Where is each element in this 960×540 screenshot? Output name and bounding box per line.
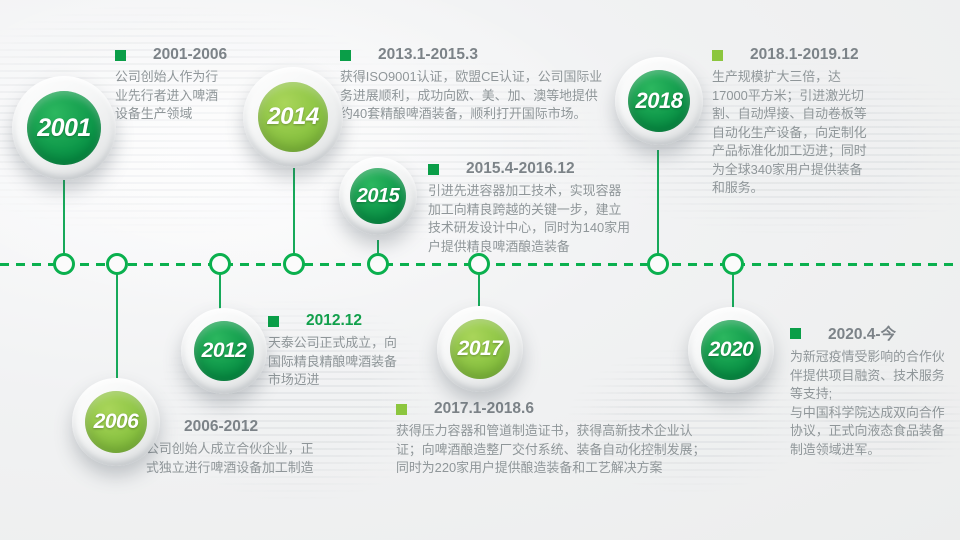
year-bubble-2015[interactable]: 2015	[339, 157, 417, 235]
bullet-square-icon	[268, 316, 279, 327]
axis-node-2017	[468, 253, 490, 275]
year-bubble-2018[interactable]: 2018	[615, 57, 703, 145]
milestone-heading-row: 2001-2006	[115, 46, 240, 64]
stem-2014	[293, 168, 295, 264]
year-bubble-2020[interactable]: 2020	[688, 307, 774, 393]
milestone-heading: 2015.4-2016.12	[466, 160, 575, 178]
milestone-heading: 2017.1-2018.6	[434, 400, 534, 418]
year-label: 2014	[267, 103, 318, 131]
milestone-body: 生产规模扩大三倍，达 17000平方米；引进激光切 割、自动焊接、自动卷板等 自…	[712, 68, 902, 198]
milestone-text-2020: 2020.4-今 为新冠疫情受影响的合作伙 伴提供项目融资、技术服务 等支持; …	[790, 322, 960, 459]
milestone-text-2001: 2001-2006 公司创始人作为行 业先行者进入啤酒 设备生产领域	[115, 46, 240, 124]
milestone-heading: 2020.4-今	[828, 322, 896, 344]
year-label: 2018	[636, 88, 683, 114]
year-bubble-2014[interactable]: 2014	[243, 67, 343, 167]
axis-node-2015	[367, 253, 389, 275]
year-bubble-2001[interactable]: 2001	[12, 76, 116, 180]
milestone-body: 为新冠疫情受影响的合作伙 伴提供项目融资、技术服务 等支持; 与中国科学院达成双…	[790, 348, 960, 459]
bullet-square-icon	[712, 50, 723, 61]
milestone-body: 引进先进容器加工技术，实现容器 加工向精良跨越的关键一步，建立 技术研发设计中心…	[428, 182, 668, 256]
axis-node-2014	[283, 253, 305, 275]
axis-node-2001	[53, 253, 75, 275]
year-bubble-2017[interactable]: 2017	[437, 306, 523, 392]
milestone-heading-row: 2020.4-今	[790, 322, 960, 344]
year-label: 2001	[37, 114, 91, 143]
axis-node-2020	[722, 253, 744, 275]
year-label: 2017	[458, 337, 503, 361]
timeline-infographic: 2001 2006 2012 2014 2015 2017 2018 2020	[0, 0, 960, 540]
bullet-square-icon	[115, 50, 126, 61]
milestone-text-2006: 2006-2012 公司创始人成立合伙企业，正 式独立进行啤酒设备加工制造	[146, 418, 366, 477]
milestone-heading-row: 2013.1-2015.3	[340, 46, 650, 64]
milestone-text-2018: 2018.1-2019.12 生产规模扩大三倍，达 17000平方米；引进激光切…	[712, 46, 902, 198]
milestone-body: 获得ISO9001认证，欧盟CE认证，公司国际业 务进展顺利，成功向欧、美、加、…	[340, 68, 650, 124]
milestone-heading-row: 2006-2012	[146, 418, 366, 436]
year-label: 2006	[94, 410, 139, 434]
milestone-heading-row: 2012.12	[268, 312, 468, 330]
milestone-heading: 2001-2006	[153, 46, 227, 64]
stem-2006	[116, 264, 118, 380]
year-label: 2020	[709, 338, 754, 362]
milestone-heading: 2013.1-2015.3	[378, 46, 478, 64]
milestone-body: 公司创始人成立合伙企业，正 式独立进行啤酒设备加工制造	[146, 440, 366, 477]
milestone-heading-row: 2015.4-2016.12	[428, 160, 668, 178]
milestone-heading: 2012.12	[306, 312, 362, 330]
milestone-body: 获得压力容器和管道制造证书，获得高新技术企业认 证；向啤酒酿造整厂交付系统、装备…	[396, 422, 716, 478]
axis-node-2018	[647, 253, 669, 275]
milestone-body: 公司创始人作为行 业先行者进入啤酒 设备生产领域	[115, 68, 240, 124]
year-bubble-2006[interactable]: 2006	[72, 378, 160, 466]
milestone-text-2017: 2017.1-2018.6 获得压力容器和管道制造证书，获得高新技术企业认 证；…	[396, 400, 716, 478]
milestone-heading: 2006-2012	[184, 418, 258, 436]
bullet-square-icon	[790, 328, 801, 339]
year-label: 2015	[357, 185, 400, 208]
milestone-text-2014: 2013.1-2015.3 获得ISO9001认证，欧盟CE认证，公司国际业 务…	[340, 46, 650, 124]
stem-2001	[63, 178, 65, 264]
milestone-heading-row: 2017.1-2018.6	[396, 400, 716, 418]
bullet-square-icon	[396, 404, 407, 415]
milestone-text-2015: 2015.4-2016.12 引进先进容器加工技术，实现容器 加工向精良跨越的关…	[428, 160, 668, 256]
bullet-square-icon	[428, 164, 439, 175]
axis-node-2012	[209, 253, 231, 275]
milestone-heading: 2018.1-2019.12	[750, 46, 859, 64]
year-bubble-2012[interactable]: 2012	[181, 308, 267, 394]
axis-node-2006	[106, 253, 128, 275]
milestone-heading-row: 2018.1-2019.12	[712, 46, 902, 64]
year-label: 2012	[202, 339, 247, 363]
bullet-square-icon	[340, 50, 351, 61]
